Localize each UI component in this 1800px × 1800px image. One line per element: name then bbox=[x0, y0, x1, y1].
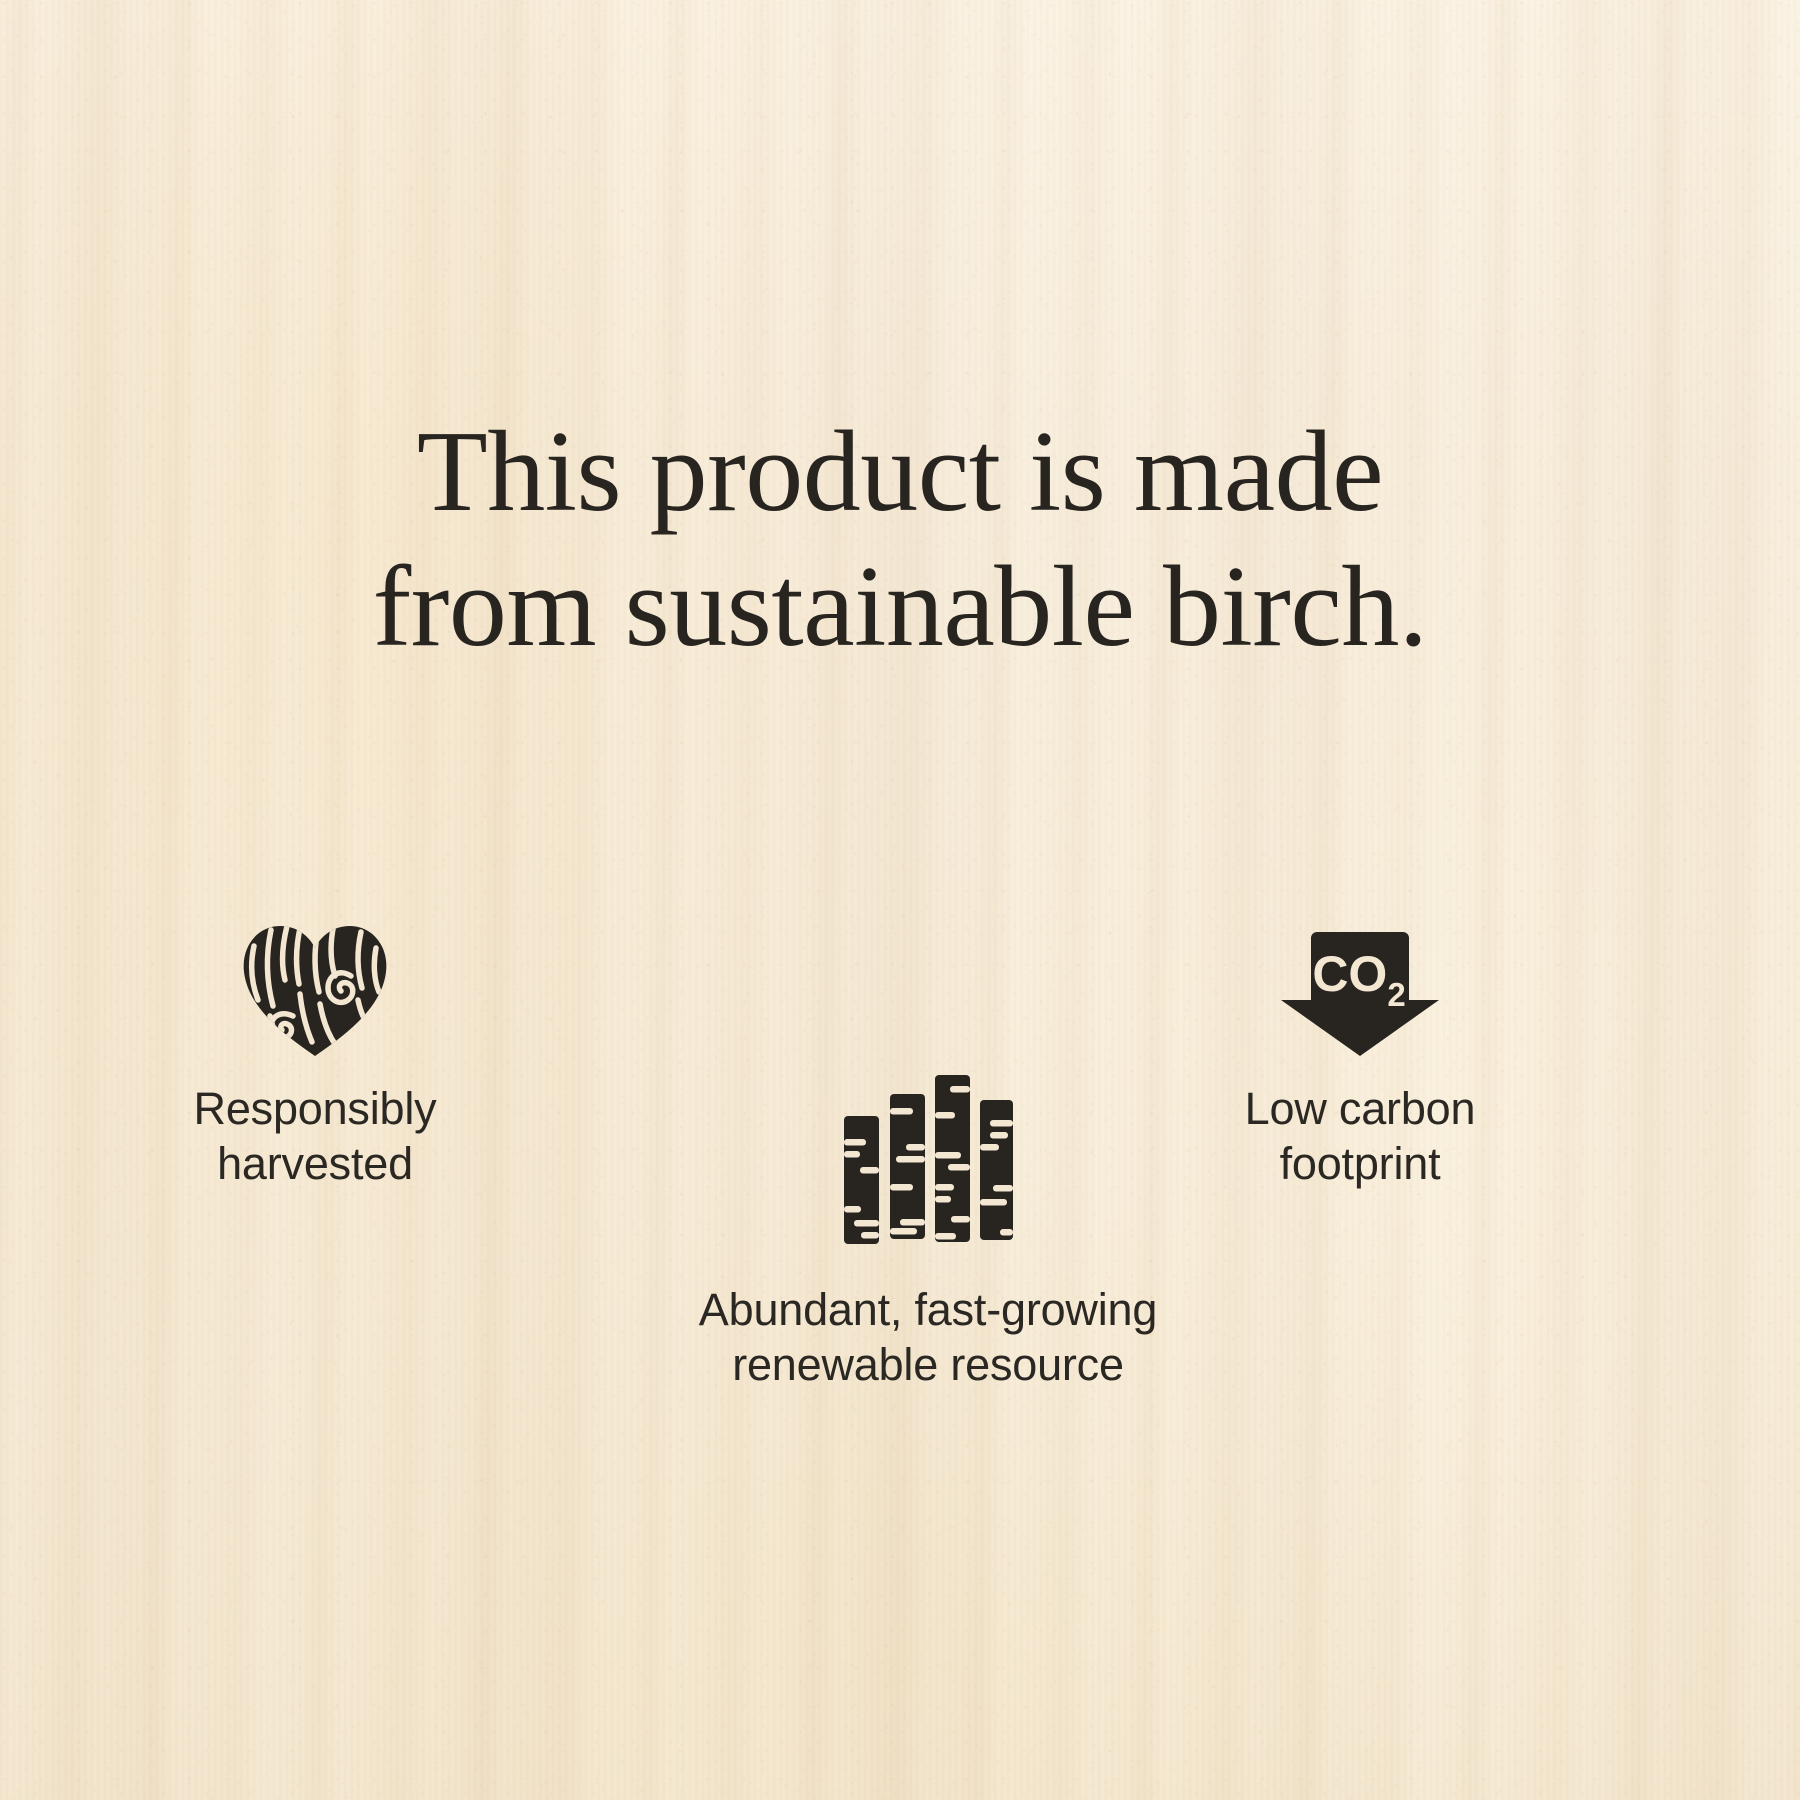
co2-icon-label-main: CO bbox=[1312, 946, 1387, 1002]
feature-caption-responsibly-harvested: Responsibly harvested bbox=[115, 1082, 515, 1192]
feature-abundant-renewable: Abundant, fast-growing renewable resourc… bbox=[648, 1027, 1208, 1393]
co2-down-arrow-icon: CO2 bbox=[1275, 928, 1445, 1060]
feature-caption-low-carbon-footprint: Low carbon footprint bbox=[1150, 1082, 1570, 1192]
headline: This product is made from sustainable bi… bbox=[0, 405, 1800, 674]
co2-down-arrow-icon-wrap: CO2 bbox=[1150, 910, 1570, 1060]
feature-row: Responsibly harvested bbox=[60, 790, 1740, 1310]
feature-low-carbon-footprint: CO2 Low carbon footprint bbox=[1150, 910, 1570, 1192]
headline-line-1: This product is made bbox=[120, 405, 1680, 540]
co2-icon-label-subscript: 2 bbox=[1387, 976, 1405, 1013]
feature-caption-abundant-renewable: Abundant, fast-growing renewable resourc… bbox=[648, 1283, 1208, 1393]
wood-grain-heart-icon-wrap bbox=[115, 910, 515, 1060]
birch-trunks-icon bbox=[838, 1072, 1018, 1257]
feature-responsibly-harvested: Responsibly harvested bbox=[115, 910, 515, 1192]
birch-trunks-icon-wrap bbox=[648, 1027, 1208, 1257]
headline-line-2: from sustainable birch. bbox=[120, 540, 1680, 675]
poster-content: This product is made from sustainable bi… bbox=[0, 0, 1800, 1800]
wood-grain-heart-icon bbox=[240, 920, 390, 1060]
